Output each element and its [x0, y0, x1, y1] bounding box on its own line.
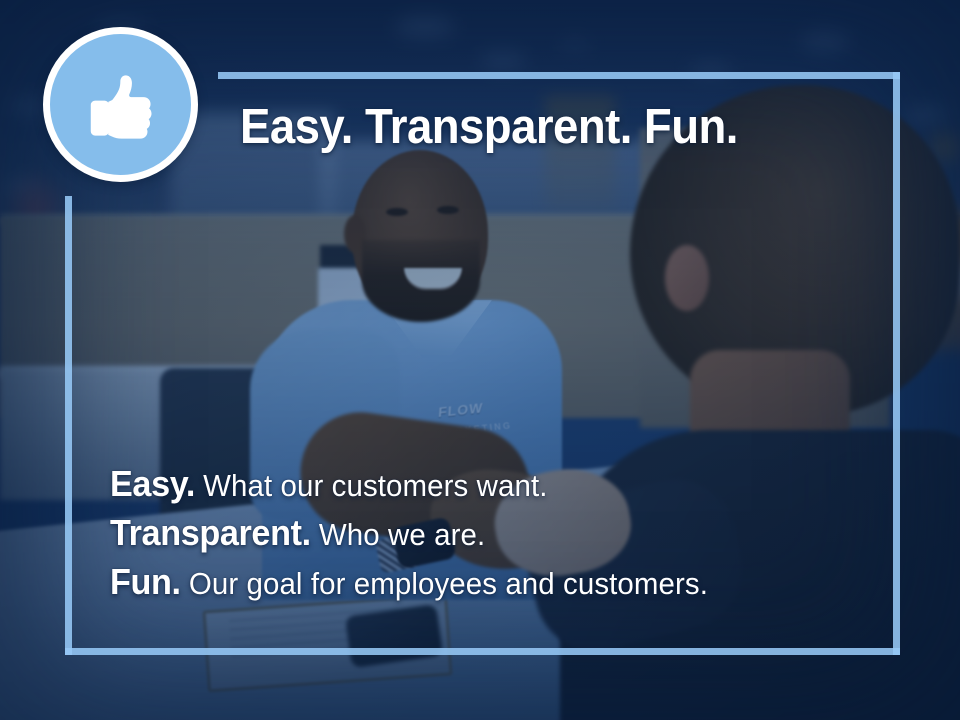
page-title: Easy. Transparent. Fun.: [240, 100, 738, 154]
taglines-block: Easy. What our customers want. Transpare…: [110, 460, 890, 607]
tagline-row: Fun. Our goal for employees and customer…: [110, 558, 851, 607]
frame-border-left: [65, 196, 72, 655]
marketing-banner: FLOW MARKETING Easy. Transparent. Fun.: [0, 0, 960, 720]
tagline-description: Who we are.: [319, 517, 485, 552]
frame-border-bottom: [65, 648, 900, 655]
tagline-description: What our customers want.: [203, 468, 547, 503]
thumbs-up-badge: [43, 27, 198, 182]
frame-border-top: [218, 72, 900, 79]
tagline-row: Easy. What our customers want.: [110, 460, 851, 509]
tagline-term: Easy.: [110, 463, 195, 504]
tagline-term: Fun.: [110, 561, 181, 602]
tagline-term: Transparent.: [110, 512, 311, 553]
tagline-row: Transparent. Who we are.: [110, 509, 851, 558]
frame-border-right: [893, 72, 900, 655]
thumbs-up-icon: [78, 61, 164, 149]
tagline-description: Our goal for employees and customers.: [189, 566, 708, 601]
